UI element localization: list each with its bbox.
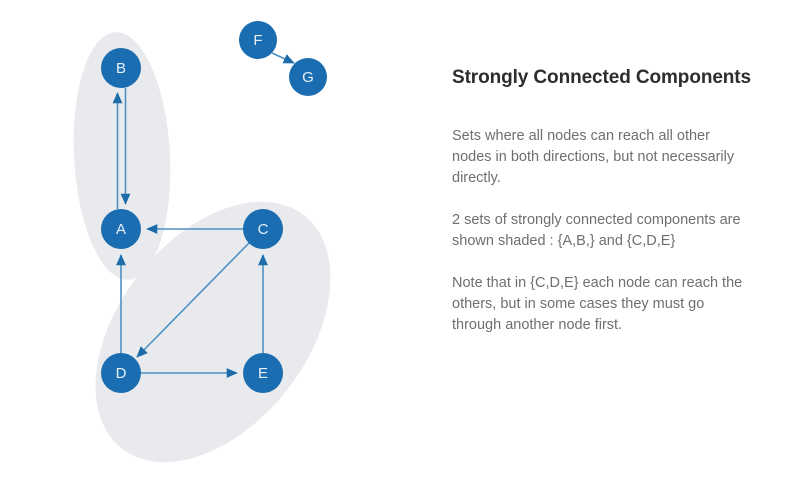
edge-f-to-g	[272, 53, 294, 63]
node-d-label: D	[116, 365, 127, 382]
node-f[interactable]: F	[239, 21, 277, 59]
node-a-label: A	[116, 221, 126, 238]
node-a[interactable]: A	[101, 209, 141, 249]
explanation-panel: Strongly Connected Components Sets where…	[452, 66, 752, 336]
page-title: Strongly Connected Components	[452, 66, 752, 90]
node-f-label: F	[253, 32, 262, 49]
node-e[interactable]: E	[243, 353, 283, 393]
node-g[interactable]: G	[289, 58, 327, 96]
description-paragraph-3: Note that in {C,D,E} each node can reach…	[452, 273, 752, 336]
node-c-label: C	[258, 221, 269, 238]
node-c[interactable]: C	[243, 209, 283, 249]
description-paragraph-1: Sets where all nodes can reach all other…	[452, 126, 752, 189]
description-paragraph-2: 2 sets of strongly connected components …	[452, 210, 752, 252]
node-b-label: B	[116, 60, 126, 77]
diagram-page: B A C D E F	[0, 0, 794, 480]
node-b[interactable]: B	[101, 48, 141, 88]
shaded-regions	[48, 30, 378, 480]
node-g-label: G	[302, 69, 314, 86]
node-d[interactable]: D	[101, 353, 141, 393]
node-e-label: E	[258, 365, 268, 382]
